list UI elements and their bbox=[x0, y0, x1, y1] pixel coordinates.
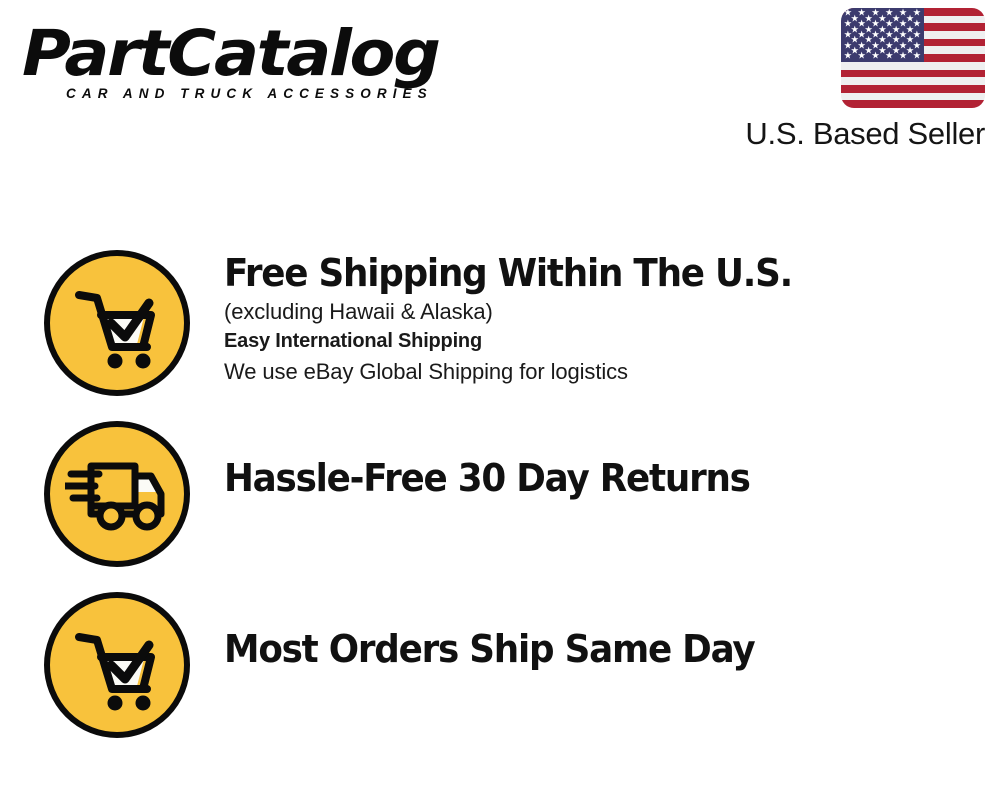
seller-badge-label: U.S. Based Seller bbox=[685, 115, 985, 153]
us-based-seller-badge: ★★★★★★★★★★★★★★★★★★★★★★★★★★★★★★★★★★★★★★★★… bbox=[685, 8, 985, 153]
shopping-cart-check-icon bbox=[44, 592, 190, 738]
feature-subline: Easy International Shipping bbox=[224, 327, 984, 356]
flag-star: ★ bbox=[899, 52, 908, 62]
flag-stripe bbox=[841, 62, 985, 70]
flag-canton: ★★★★★★★★★★★★★★★★★★★★★★★★★★★★★★★★★★★★★★★★… bbox=[841, 8, 924, 62]
brand-logo: PartCatalog CAR AND TRUCK ACCESSORIES bbox=[22, 18, 522, 101]
flag-stripe bbox=[841, 85, 985, 93]
flag-star: ★ bbox=[913, 52, 922, 62]
feature-title: Hassle-Free 30 Day Returns bbox=[224, 455, 938, 501]
feature-text-wrapper: Free Shipping Within The U.S. (excluding… bbox=[224, 250, 984, 387]
promotional-banner: PartCatalog CAR AND TRUCK ACCESSORIES ★★… bbox=[0, 0, 1000, 800]
feature-icon-wrapper bbox=[44, 250, 190, 396]
flag-star: ★ bbox=[844, 52, 853, 62]
feature-subline: We use eBay Global Shipping for logistic… bbox=[224, 356, 984, 387]
feature-text-wrapper: Hassle-Free 30 Day Returns bbox=[224, 421, 984, 501]
us-flag-icon: ★★★★★★★★★★★★★★★★★★★★★★★★★★★★★★★★★★★★★★★★… bbox=[841, 8, 985, 108]
delivery-truck-icon bbox=[44, 421, 190, 567]
feature-text-wrapper: Most Orders Ship Same Day bbox=[224, 592, 984, 672]
feature-icon-wrapper bbox=[44, 421, 190, 567]
feature-subline: (excluding Hawaii & Alaska) bbox=[224, 296, 984, 327]
flag-stripe bbox=[841, 77, 985, 85]
shopping-cart-check-icon bbox=[44, 250, 190, 396]
brand-wordmark: PartCatalog bbox=[22, 18, 552, 90]
flag-stripe bbox=[841, 100, 985, 108]
flag-star: ★ bbox=[871, 52, 880, 62]
flag-star: ★ bbox=[885, 52, 894, 62]
feature-title: Most Orders Ship Same Day bbox=[224, 626, 938, 672]
feature-icon-wrapper bbox=[44, 592, 190, 738]
flag-star: ★ bbox=[857, 52, 866, 62]
flag-stripe bbox=[841, 93, 985, 101]
flag-stripe bbox=[841, 70, 985, 78]
feature-title: Free Shipping Within The U.S. bbox=[224, 250, 938, 296]
